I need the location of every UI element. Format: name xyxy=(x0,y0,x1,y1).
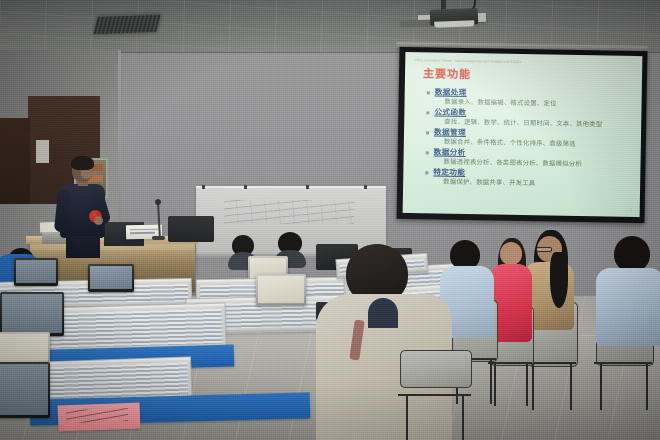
chair-back xyxy=(400,350,472,388)
projector-icon xyxy=(430,8,479,26)
slide-page-number: 3 xyxy=(630,208,632,212)
crt-monitor xyxy=(0,292,64,336)
slide-body: 数据处理 数据录入、数据编辑、格式设置、定位 公式函数 查找、逻辑、数学、统计、… xyxy=(425,87,636,191)
slide-section-heading-text: 数据处理 xyxy=(435,87,467,97)
eyeglasses-icon xyxy=(536,247,552,252)
whiteboard-clip xyxy=(364,185,367,189)
projection-screen[interactable]: Office Automation Series - Data Manageme… xyxy=(397,47,648,223)
microphone-base xyxy=(152,236,165,240)
presenter-hair xyxy=(71,156,94,170)
crt-monitor xyxy=(256,274,306,306)
attendee-pink-top xyxy=(492,238,538,362)
slide-section-heading-text: 公式函数 xyxy=(434,107,466,117)
attendee-hair-strand xyxy=(550,252,568,308)
whiteboard-clip xyxy=(244,185,247,189)
crt-monitor xyxy=(88,264,134,292)
pink-sticky-note xyxy=(58,403,141,432)
attendee-right-blue xyxy=(600,236,660,376)
slide-section: 数据分析 数据透视表分析、各类图表分析、数据模拟分析 xyxy=(425,147,634,170)
slide-section-heading-text: 数据管理 xyxy=(434,127,466,137)
whiteboard-clip xyxy=(202,185,205,189)
sticky-note-handwriting xyxy=(66,408,128,423)
wood-wall-panel-secondary xyxy=(0,118,30,204)
slide-section: 特定功能 数据保护、数据共享、开发工具 xyxy=(425,167,634,190)
slide-section-heading-text: 特定功能 xyxy=(433,167,465,177)
slide-section-heading-text: 数据分析 xyxy=(434,147,466,157)
whiteboard-writing xyxy=(224,200,354,224)
folding-chair xyxy=(400,350,470,440)
wall-notice-paper xyxy=(36,140,49,163)
slide-title: 主要功能 xyxy=(423,68,471,82)
ceiling-vent-grille xyxy=(94,15,161,34)
slide-section: 数据处理 数据录入、数据编辑、格式设置、定位 xyxy=(426,87,635,110)
slide-header-text: Office Automation Series - Data Manageme… xyxy=(414,58,634,67)
classroom-photo-scene: Office Automation Series - Data Manageme… xyxy=(0,0,660,440)
attendee-head xyxy=(614,236,650,272)
slide-surface: Office Automation Series - Data Manageme… xyxy=(403,52,643,217)
slide-section: 数据管理 数据合并、条件格式、个性化排序、高级筛选 xyxy=(426,127,635,150)
crt-monitor xyxy=(14,258,58,286)
podium-monitor xyxy=(168,216,214,242)
presenter-instructor xyxy=(54,158,114,254)
attendee-head xyxy=(500,242,522,265)
attendee-collar xyxy=(368,298,398,328)
crt-monitor xyxy=(0,362,50,418)
presenter-hand xyxy=(94,216,103,225)
whiteboard-clip xyxy=(306,185,309,189)
slide-section: 公式函数 查找、逻辑、数学、统计、日期时间、文本、其他类型 xyxy=(426,107,635,130)
attendee-body xyxy=(596,268,660,346)
microphone-icon xyxy=(155,199,161,205)
